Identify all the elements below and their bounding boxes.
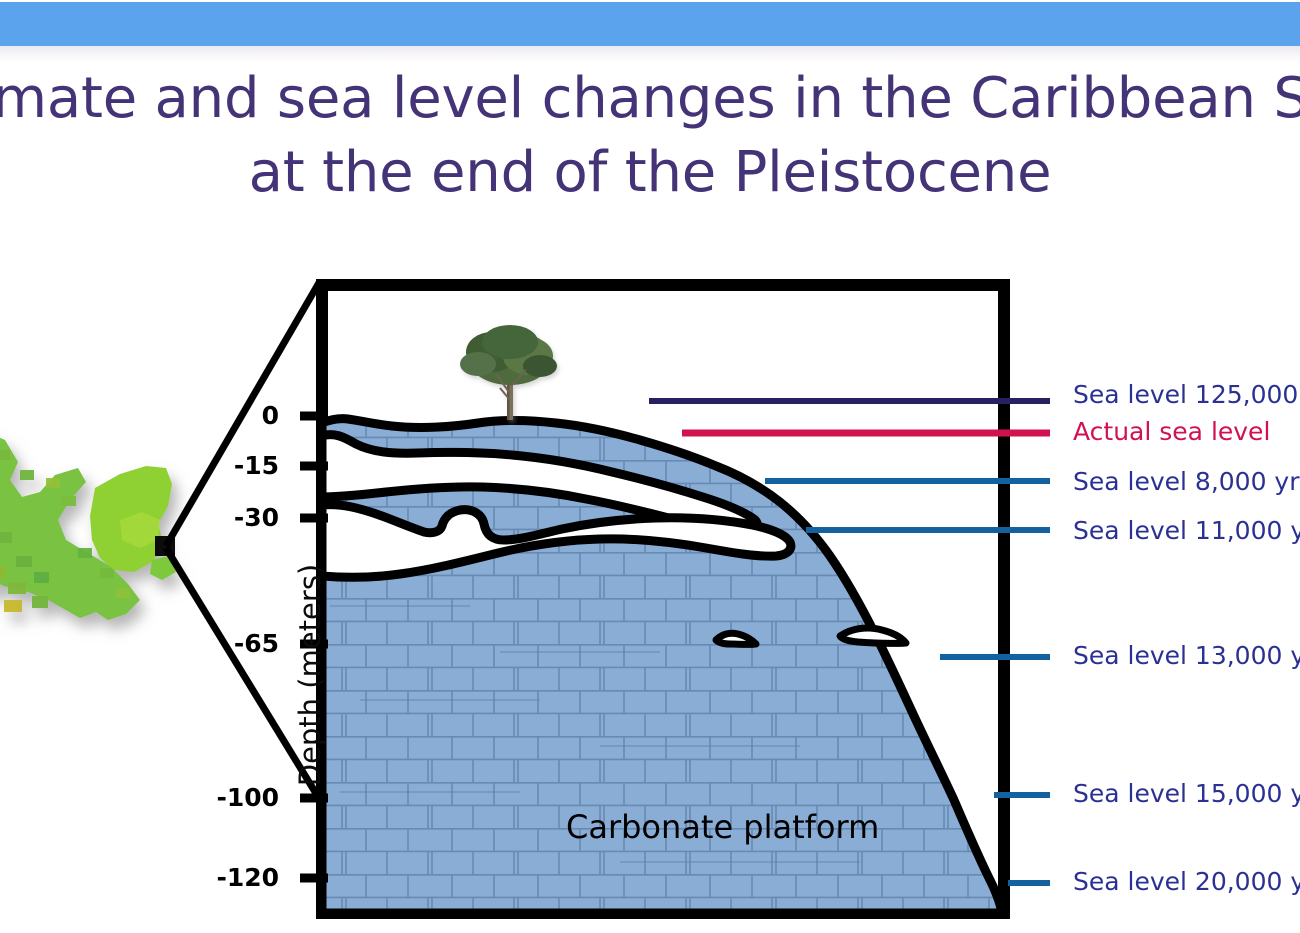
y-tick-label-30: -30 — [199, 505, 279, 530]
legend-label-sea-level-8000: Sea level 8,000 yrs — [1073, 469, 1300, 494]
y-tick-label-65: -65 — [199, 631, 279, 656]
legend-label-sea-level-13000: Sea level 13,000 yrs — [1073, 643, 1300, 668]
legend-label-sea-level-20000: Sea level 20,000 yrs — [1073, 869, 1300, 894]
legend-label-actual-sea-level: Actual sea level — [1073, 419, 1270, 444]
legend-label-sea-level-11000: Sea level 11,000 yrs — [1073, 518, 1300, 543]
y-tick-label-15: -15 — [199, 453, 279, 478]
y-tick-label-0: 0 — [199, 403, 279, 428]
slide: Climate and sea level changes in the Car… — [0, 0, 1300, 933]
y-tick-label-120: -120 — [199, 865, 279, 890]
legend-label-sea-level-125000: Sea level 125,000 yrs — [1073, 382, 1300, 407]
legend-label-sea-level-15000: Sea level 15,000 yrs — [1073, 781, 1300, 806]
y-axis-title: Depth (meters) — [293, 545, 327, 805]
mexico-yucatan-vegetation-map — [0, 425, 176, 620]
y-tick-label-100: -100 — [199, 785, 279, 810]
carbonate-platform-label: Carbonate platform — [566, 808, 879, 846]
